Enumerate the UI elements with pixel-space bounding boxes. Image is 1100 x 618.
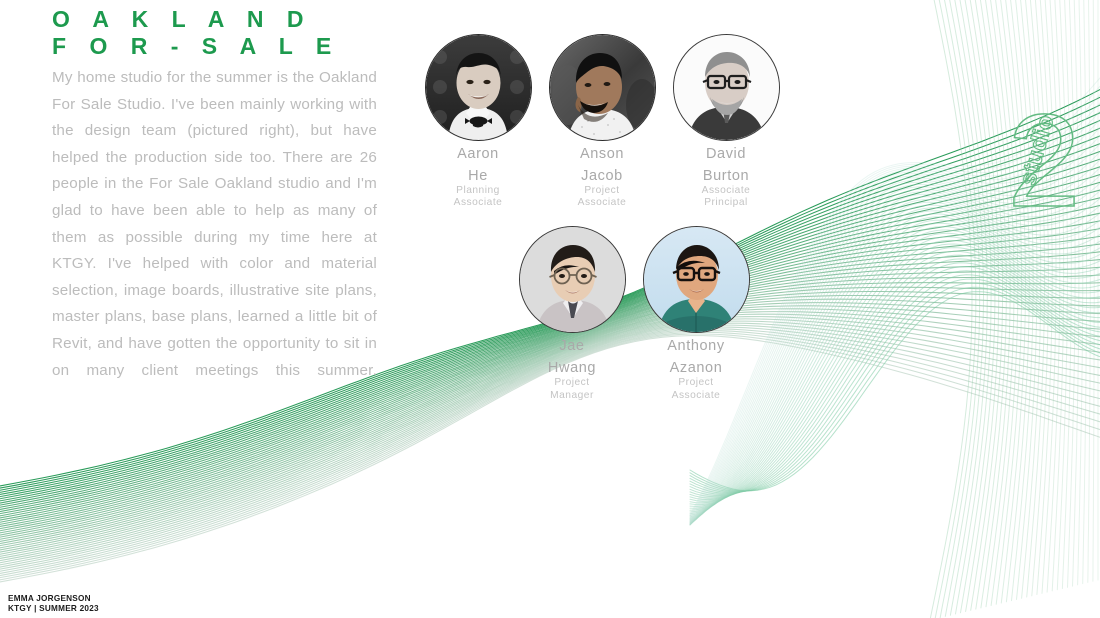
portrait-jae-hwang-image — [520, 227, 625, 332]
team-member-first-name: David — [706, 146, 746, 163]
studio-number-marker: 2 studio — [992, 88, 1096, 218]
team-member-first-name: Aaron — [457, 146, 499, 163]
page-title-line-1: O A K L A N D — [52, 6, 377, 33]
team-member-grid: Aaron He Planning Associate — [402, 34, 802, 402]
team-member-last-name: Jacob — [581, 168, 623, 185]
avatar — [549, 34, 656, 141]
team-member-title-line-2: Associate — [578, 197, 627, 209]
team-member-title-line-2: Associate — [454, 197, 503, 209]
footer-author-name: EMMA JORGENSON — [8, 594, 99, 604]
portrait-aaron-he-image — [426, 35, 531, 140]
text-column: O A K L A N D F O R - S A L E My home st… — [52, 6, 377, 411]
team-member-first-name: Anthony — [667, 338, 724, 355]
page-title-line-2: F O R - S A L E — [52, 33, 377, 60]
team-member-title-line-1: Project — [584, 185, 619, 197]
portrait-david-burton-image — [674, 35, 779, 140]
team-member-title-line-1: Planning — [456, 185, 500, 197]
team-member-card[interactable]: Anthony Azanon Project Associate — [644, 226, 749, 401]
avatar — [519, 226, 626, 333]
team-member-last-name: He — [468, 168, 488, 185]
slide-canvas: 2 studio O A K L A N D F O R - S A L E M… — [0, 0, 1100, 618]
avatar — [673, 34, 780, 141]
team-member-last-name: Hwang — [548, 360, 596, 377]
team-member-title-line-1: Project — [554, 377, 589, 389]
body-paragraph: My home studio for the summer is the Oak… — [52, 65, 377, 411]
team-member-title-line-2: Manager — [550, 390, 594, 402]
team-member-card[interactable]: Jae Hwang Project Manager — [520, 226, 625, 401]
team-member-card[interactable]: Aaron He Planning Associate — [426, 34, 531, 209]
team-member-last-name: Azanon — [670, 360, 723, 377]
footer-company-season: KTGY | SUMMER 2023 — [8, 604, 99, 614]
team-member-last-name: Burton — [703, 168, 749, 185]
team-member-title-line-2: Associate — [672, 390, 721, 402]
avatar — [643, 226, 750, 333]
portrait-anthony-azanon-image — [644, 227, 749, 332]
portrait-anson-jacob-image — [550, 35, 655, 140]
team-member-card[interactable]: Anson Jacob Project Associate — [550, 34, 655, 209]
avatar — [425, 34, 532, 141]
team-member-title-line-1: Associate — [702, 185, 751, 197]
team-member-first-name: Jae — [559, 338, 584, 355]
team-member-title-line-2: Principal — [704, 197, 748, 209]
footer-credit: EMMA JORGENSON KTGY | SUMMER 2023 — [8, 594, 99, 613]
team-row-top: Aaron He Planning Associate — [402, 34, 802, 209]
team-member-title-line-1: Project — [678, 377, 713, 389]
team-row-bottom: Jae Hwang Project Manager — [466, 226, 802, 401]
team-member-card[interactable]: David Burton Associate Principal — [674, 34, 779, 209]
team-member-first-name: Anson — [580, 146, 624, 163]
